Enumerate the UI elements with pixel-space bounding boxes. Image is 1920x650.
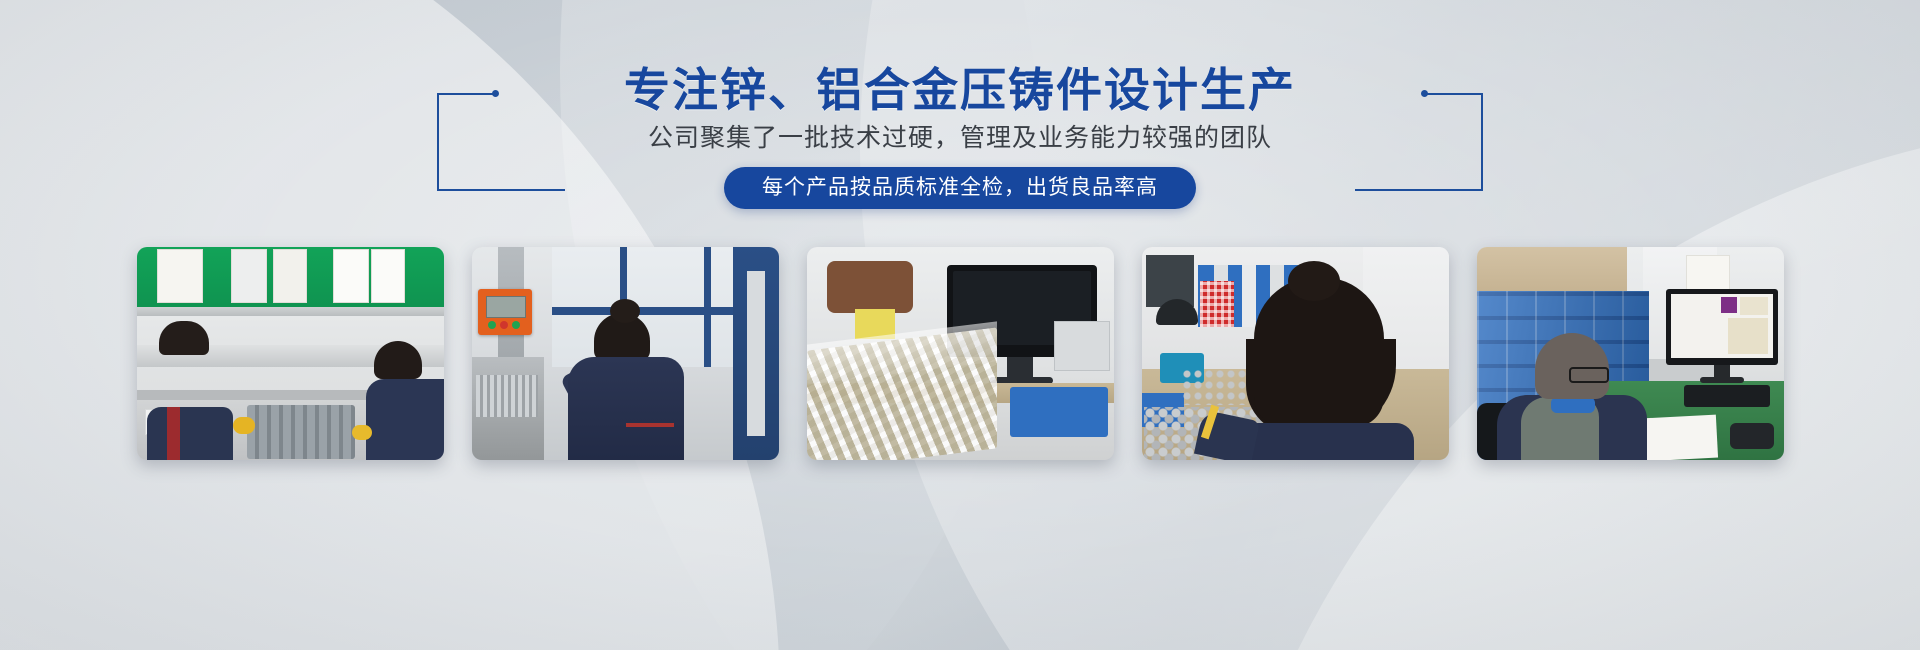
photo-thumbnail-1[interactable] (137, 247, 444, 460)
photo-2-scene (472, 247, 779, 460)
photo-5-scene (1477, 247, 1784, 460)
photo-1-scene (137, 247, 444, 460)
photo-3-scene (807, 247, 1114, 460)
photo-thumbnail-3[interactable] (807, 247, 1114, 460)
photo-thumbnail-5[interactable] (1477, 247, 1784, 460)
photo-thumbnail-4[interactable] (1142, 247, 1449, 460)
photo-strip (0, 247, 1920, 462)
photo-thumbnail-2[interactable] (472, 247, 779, 460)
bracket-left-bottom (437, 189, 565, 191)
banner-subtitle: 公司聚集了一批技术过硬，管理及业务能力较强的团队 (0, 118, 1920, 158)
banner-title: 专注锌、铝合金压铸件设计生产 (0, 60, 1920, 120)
promo-banner: 专注锌、铝合金压铸件设计生产 公司聚集了一批技术过硬，管理及业务能力较强的团队 … (0, 0, 1920, 650)
bracket-right-bottom (1355, 189, 1483, 191)
photo-4-scene (1142, 247, 1449, 460)
headline-block: 专注锌、铝合金压铸件设计生产 公司聚集了一批技术过硬，管理及业务能力较强的团队 … (0, 0, 1920, 240)
quality-badge: 每个产品按品质标准全检，出货良品率高 (724, 167, 1196, 209)
